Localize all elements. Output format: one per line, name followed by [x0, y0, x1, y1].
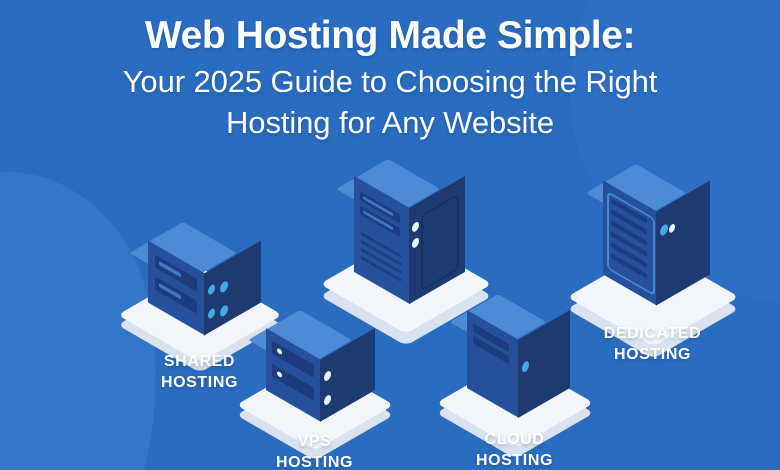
server-rack-icon — [592, 165, 716, 313]
status-led — [412, 236, 419, 249]
title-line-3: Hosting for Any Website — [0, 102, 780, 143]
page-title: Web Hosting Made Simple: Your 2025 Guide… — [0, 11, 780, 143]
status-led — [220, 280, 228, 295]
bay-led — [277, 370, 282, 378]
bay-slot-line — [159, 283, 181, 300]
status-led — [220, 304, 228, 319]
status-led — [660, 223, 668, 238]
title-line-1: Web Hosting Made Simple: — [0, 11, 780, 61]
status-led — [208, 307, 215, 320]
status-led — [412, 220, 419, 233]
side-panel-outline — [421, 193, 459, 291]
node-label-vps: VPS HOSTING — [232, 431, 397, 470]
status-led — [208, 283, 215, 296]
status-led — [669, 223, 675, 234]
server-tower-icon — [342, 160, 470, 305]
server-tower-icon — [460, 295, 576, 421]
node-label-dedicated: DEDICATED HOSTING — [560, 323, 745, 365]
server-cube-icon — [260, 311, 376, 429]
bay-slot-line — [159, 261, 181, 278]
status-led — [522, 360, 529, 374]
status-led — [324, 394, 331, 407]
bay-led — [277, 347, 282, 355]
infographic-canvas: Web Hosting Made Simple: Your 2025 Guide… — [0, 0, 780, 470]
title-line-2: Your 2025 Guide to Choosing the Right — [0, 61, 780, 102]
node-label-cloud: CLOUD HOSTING — [432, 429, 597, 470]
node-dedicated-hosting[interactable]: DEDICATED HOSTING — [560, 165, 745, 375]
status-led — [324, 370, 331, 383]
node-vps-hosting[interactable]: VPS HOSTING — [232, 305, 397, 470]
